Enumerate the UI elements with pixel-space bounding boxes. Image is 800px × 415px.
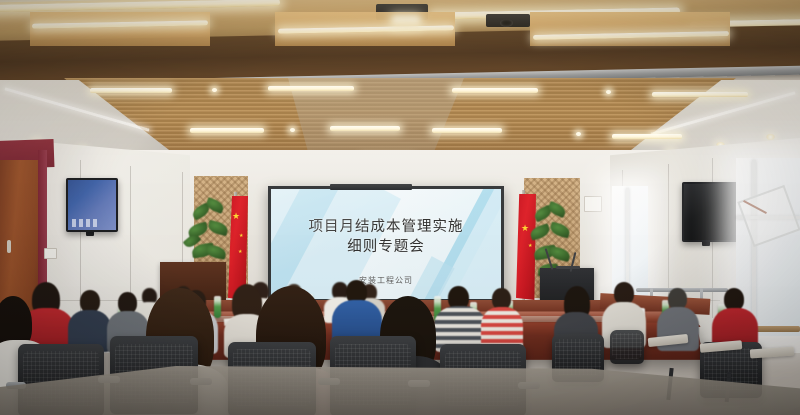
office-chair-8[interactable] (610, 330, 644, 364)
ceiling-spot-r1a (212, 88, 217, 92)
ceiling-tube-r1a (90, 88, 172, 93)
cove-panel-1 (30, 12, 210, 46)
cove-panel-3 (530, 12, 730, 46)
cove-flare (392, 16, 420, 26)
door-handle[interactable] (7, 240, 11, 253)
right-wall-tv[interactable] (682, 182, 738, 242)
ceiling-tube-r1d (652, 92, 748, 97)
chinese-flag-right: ★ ★ (516, 194, 536, 300)
chair-mesh-back-8 (612, 333, 642, 359)
downlight-right-4 (766, 134, 775, 140)
projector-lens-2-icon (500, 19, 513, 27)
ceiling-tube-r2a (190, 128, 264, 133)
ceiling-tube-r1c (452, 88, 538, 93)
ceiling-tube-r2d (612, 134, 682, 139)
left-wall-tv[interactable] (66, 178, 118, 232)
flag-star-small-left-1: ★ (239, 234, 243, 239)
wall-plaque (584, 196, 602, 212)
conference-room-photo: 项目月结成本管理实施 细则专题会 安装工程公司 ★ ★ ★ ★ ★ (0, 0, 800, 415)
mic-stand-base (556, 266, 580, 269)
water-bottle-2 (214, 296, 221, 318)
ceiling-tube-r1b (268, 86, 354, 91)
flag-star-small-right-1: ★ (528, 244, 532, 249)
ceiling-tube-r2b (330, 126, 400, 131)
projection-screen-surface: 项目月结成本管理实施 细则专题会 安装工程公司 (271, 189, 501, 299)
slide-title-line1: 项目月结成本管理实施 (271, 219, 501, 236)
ceiling-spot-r2b (576, 132, 581, 136)
flag-star-small-left-2: ★ (238, 250, 242, 255)
projection-screen[interactable]: 项目月结成本管理实施 细则专题会 安装工程公司 (268, 186, 504, 302)
flag-star-main-right: ★ (521, 224, 529, 233)
ceiling-spot-r2a (290, 128, 295, 132)
screen-top-mount (330, 184, 412, 190)
tablet-arm-desk-3 (750, 346, 795, 358)
ceiling-tube-r2c (432, 128, 502, 133)
slide-subtitle: 安装工程公司 (271, 275, 501, 286)
ceiling-spot-r1b (606, 90, 611, 94)
flag-star-main-left: ★ (232, 212, 240, 221)
light-switch-plate[interactable] (44, 248, 57, 259)
slide-title-line2: 细则专题会 (271, 239, 501, 256)
